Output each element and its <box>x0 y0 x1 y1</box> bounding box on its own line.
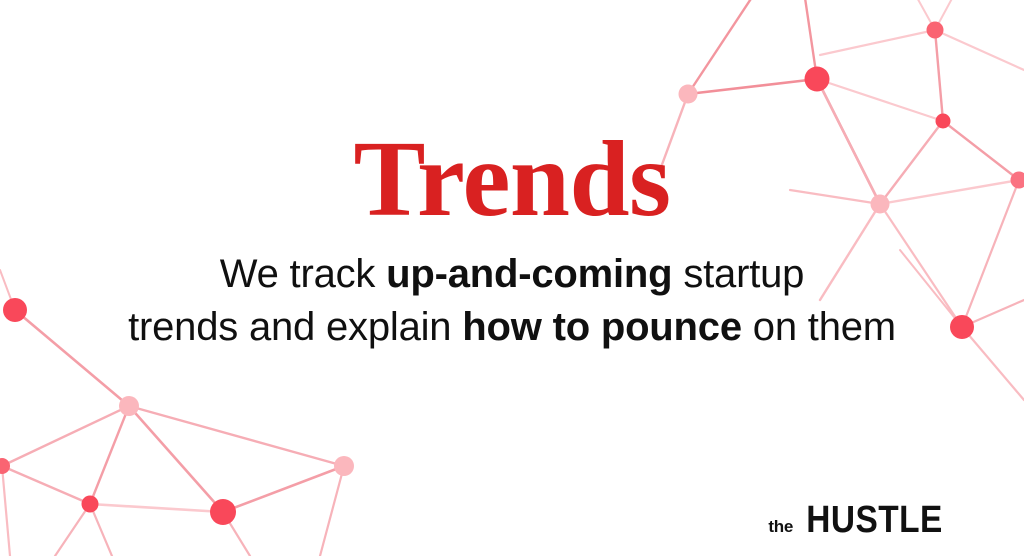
subtitle-line-1: We track up-and-coming startup <box>128 248 896 301</box>
subtitle-line-2: trends and explain how to pounce on them <box>128 301 896 354</box>
trends-promo-card: Trends We track up-and-coming startup tr… <box>0 0 1024 556</box>
the-hustle-logo: the HUSTLE <box>768 499 952 542</box>
logo-wordmark-hustle: HUSTLE <box>806 499 942 542</box>
logo-prefix-the: the <box>768 517 793 537</box>
subtitle-line-2-text-a: trends and explain <box>128 305 462 349</box>
subtitle-emphasis-up-and-coming: up-and-coming <box>386 252 672 296</box>
card-content: Trends We track up-and-coming startup tr… <box>0 0 1024 556</box>
subtitle: We track up-and-coming startup trends an… <box>128 248 896 354</box>
subtitle-line-1-text-c: startup <box>672 252 804 296</box>
subtitle-line-2-text-c: on them <box>742 305 896 349</box>
subtitle-emphasis-how-to-pounce: how to pounce <box>462 305 742 349</box>
page-title: Trends <box>353 126 670 234</box>
subtitle-line-1-text-a: We track <box>220 252 386 296</box>
